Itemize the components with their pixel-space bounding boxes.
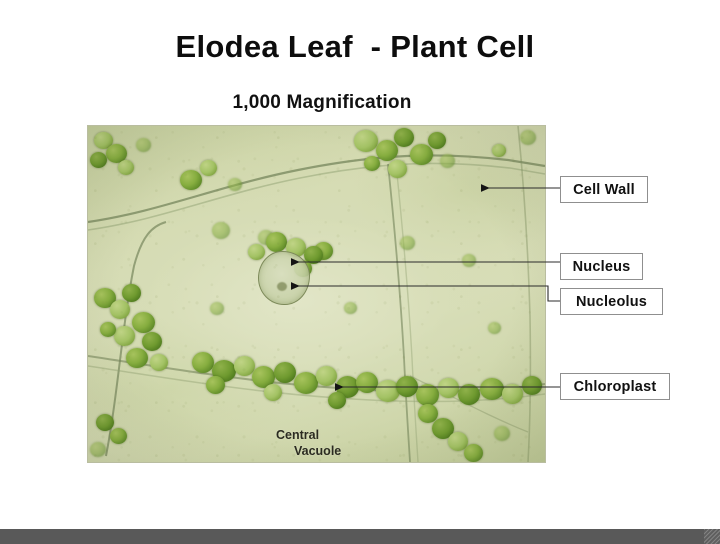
micrograph-image: CentralVacuole xyxy=(88,126,545,462)
label-chloroplast[interactable]: Chloroplast xyxy=(560,373,670,400)
slide-subtitle-text: 1,000 Magnification xyxy=(232,92,411,114)
footer-corner-texture xyxy=(704,529,720,544)
slide-title: Elodea Leaf - Plant Cell xyxy=(0,29,720,65)
label-cell-wall-text: Cell Wall xyxy=(573,182,635,198)
label-nucleolus[interactable]: Nucleolus xyxy=(560,288,663,315)
label-nucleus[interactable]: Nucleus xyxy=(560,253,643,280)
label-nucleus-text: Nucleus xyxy=(573,259,631,275)
label-cell-wall[interactable]: Cell Wall xyxy=(560,176,648,203)
footer-bar xyxy=(0,529,720,544)
slide-title-text: Elodea Leaf - Plant Cell xyxy=(176,29,535,65)
slide-canvas: Elodea Leaf - Plant Cell 1,000 Magnifica… xyxy=(0,0,720,544)
label-nucleolus-text: Nucleolus xyxy=(576,294,647,310)
slide-subtitle: 1,000 Magnification xyxy=(0,92,720,114)
vignette xyxy=(88,126,545,462)
label-chloroplast-text: Chloroplast xyxy=(574,379,657,395)
